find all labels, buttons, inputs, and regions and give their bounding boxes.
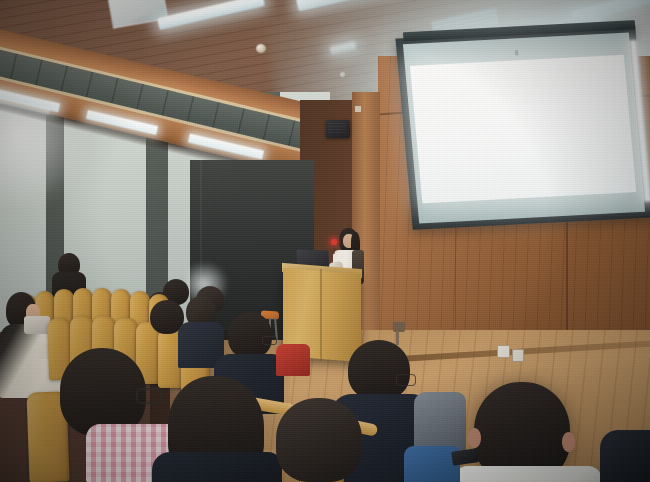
recessed-downlight-icon xyxy=(256,44,266,53)
audience-head xyxy=(348,340,410,400)
lecture-hall-photograph: white / cream blouse xyxy=(0,0,650,482)
audience-head xyxy=(276,398,362,482)
audience-ear xyxy=(468,428,481,448)
wall-fitting-stem xyxy=(396,331,399,345)
audience-body-white-collar xyxy=(452,466,602,482)
audience-body xyxy=(152,452,282,482)
wall-fitting xyxy=(393,322,405,332)
screen-marker xyxy=(515,50,518,55)
microphone-stem xyxy=(333,244,335,254)
eyeglasses-icon xyxy=(262,336,277,345)
eyeglasses-icon xyxy=(136,388,162,404)
screen-surface xyxy=(410,55,636,204)
wall-plate xyxy=(355,106,361,112)
audience-shoulder xyxy=(600,430,650,482)
eyeglasses-icon xyxy=(396,374,416,386)
power-socket xyxy=(512,349,524,362)
audience-head xyxy=(60,348,146,436)
audience-head xyxy=(228,312,272,358)
microphone-indicator-icon xyxy=(331,239,337,245)
audience-ear xyxy=(562,432,575,452)
projection-screen xyxy=(395,26,650,230)
speaker-grille-icon xyxy=(328,123,346,135)
power-socket xyxy=(497,345,510,358)
audience-red-garment xyxy=(276,344,310,376)
